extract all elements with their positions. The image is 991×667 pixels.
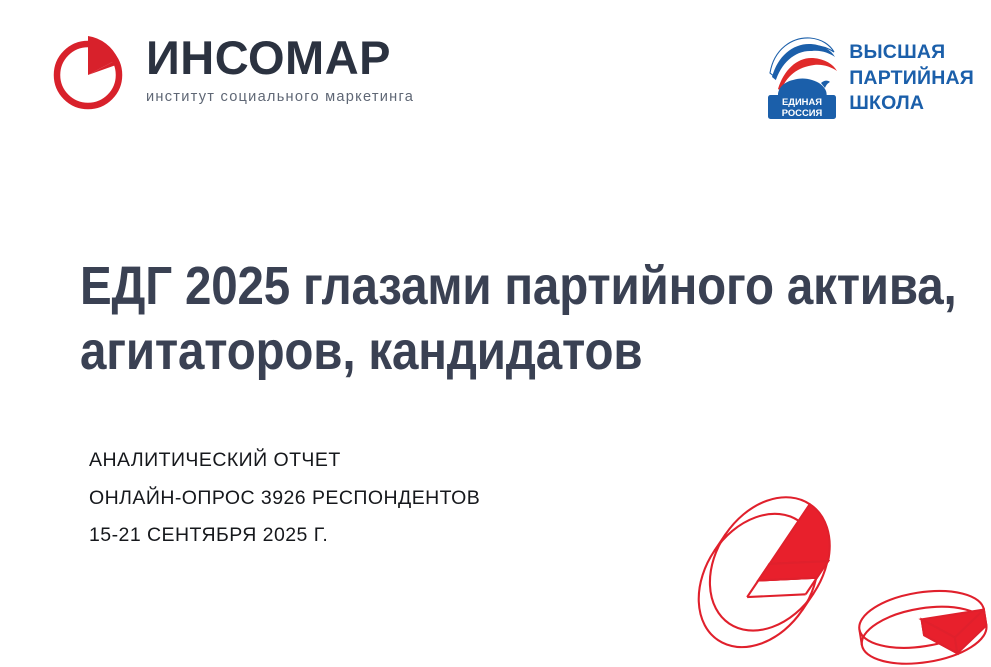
pie-chart-ring-icon (52, 35, 128, 111)
united-russia-bear-flag-icon: ЕДИНАЯ РОССИЯ (766, 33, 838, 121)
title-line-2: агитаторов, кандидатов (80, 319, 828, 384)
page-title: ЕДГ 2025 глазами партийного актива, агит… (80, 254, 828, 384)
insomar-wordmark: ИНСОМАР институт социального маркетинга (146, 33, 414, 105)
subtitle-line-dates: 15-21 СЕНТЯБРЯ 2025 Г. (89, 517, 480, 555)
subtitle-line-report-type: АНАЛИТИЧЕСКИЙ ОТЧЕТ (89, 442, 480, 480)
party-school-line-2: ПАРТИЙНАЯ (849, 67, 974, 89)
pie-chart-3d-flat-icon (845, 583, 991, 667)
title-line-1: ЕДГ 2025 глазами партийного актива, (80, 254, 828, 319)
party-school-line-1: ВЫСШАЯ (849, 41, 945, 63)
insomar-tagline: институт социального маркетинга (146, 90, 414, 105)
title-slide: ИНСОМАР институт социального маркетинга … (0, 0, 991, 667)
insomar-name: ИНСОМАР (146, 34, 414, 81)
pie-chart-3d-tilted-icon (668, 489, 853, 667)
party-school-line-3: ШКОЛА (849, 92, 924, 114)
party-school-wordmark: ВЫСШАЯ ПАРТИЙНАЯ ШКОЛА (849, 40, 974, 117)
united-russia-badge-line-2: РОССИЯ (782, 107, 823, 118)
subtitle-line-sample: ОНЛАЙН-ОПРОС 3926 РЕСПОНДЕНТОВ (89, 480, 480, 518)
united-russia-badge-line-1: ЕДИНАЯ (782, 96, 822, 107)
insomar-logo: ИНСОМАР институт социального маркетинга (52, 33, 414, 111)
subtitle-block: АНАЛИТИЧЕСКИЙ ОТЧЕТ ОНЛАЙН-ОПРОС 3926 РЕ… (89, 442, 480, 555)
united-russia-party-school-logo: ЕДИНАЯ РОССИЯ ВЫСШАЯ ПАРТИЙНАЯ ШКОЛА (766, 33, 974, 121)
